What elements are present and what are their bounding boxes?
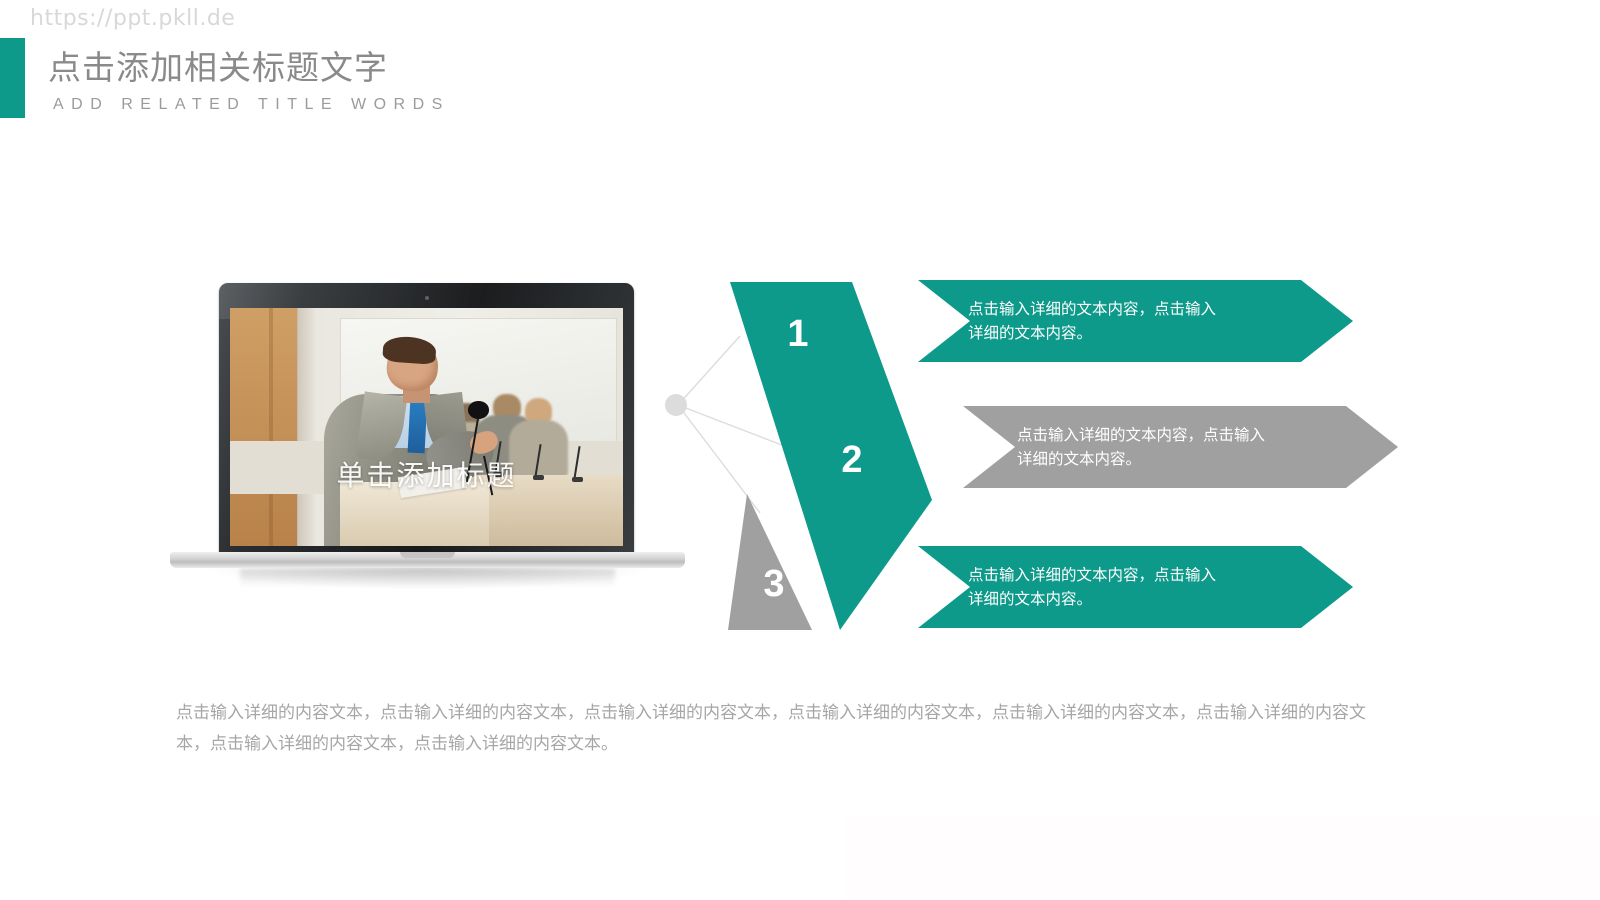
- corner-tint: [843, 816, 1600, 900]
- step-2-banner-line-2: 详细的文本内容。: [1017, 447, 1346, 471]
- laptop-shadow: [200, 568, 655, 590]
- step-1-banner-text: 点击输入详细的文本内容，点击输入 详细的文本内容。: [918, 280, 1353, 362]
- step-3-banner[interactable]: 点击输入详细的文本内容，点击输入 详细的文本内容。: [918, 546, 1353, 628]
- step-3-shape[interactable]: [728, 494, 812, 630]
- step-2-banner-text: 点击输入详细的文本内容，点击输入 详细的文本内容。: [963, 406, 1398, 488]
- footer-paragraph: 点击输入详细的内容文本，点击输入详细的内容文本，点击输入详细的内容文本，点击输入…: [176, 698, 1396, 760]
- step-2-banner-line-1: 点击输入详细的文本内容，点击输入: [1017, 423, 1346, 447]
- step-2-banner[interactable]: 点击输入详细的文本内容，点击输入 详细的文本内容。: [963, 406, 1398, 488]
- step-3-banner-text: 点击输入详细的文本内容，点击输入 详细的文本内容。: [918, 546, 1353, 628]
- screen-overlay-title: 单击添加标题: [230, 454, 623, 494]
- photo-microphone-head: [468, 401, 490, 419]
- laptop-screen: 单击添加标题: [230, 308, 623, 546]
- step-3-number: 3: [763, 563, 784, 605]
- step-1-banner[interactable]: 点击输入详细的文本内容，点击输入 详细的文本内容。: [918, 280, 1353, 362]
- step-1-banner-line-2: 详细的文本内容。: [968, 321, 1301, 345]
- header-accent-bar: [0, 38, 25, 118]
- step-3-banner-line-1: 点击输入详细的文本内容，点击输入: [968, 563, 1301, 587]
- watermark-url: https://ppt.pkll.de: [30, 6, 235, 31]
- step-3-banner-line-2: 详细的文本内容。: [968, 587, 1301, 611]
- photo-wood-panel: [230, 308, 297, 546]
- page-title: 点击添加相关标题文字: [48, 41, 388, 89]
- laptop-base-notch: [400, 552, 455, 558]
- page-subtitle: ADD RELATED TITLE WORDS: [53, 96, 450, 114]
- connector-hub-dot: [665, 394, 687, 416]
- laptop-camera-icon: [425, 296, 429, 300]
- step-1-number: 1: [787, 313, 808, 355]
- step-2-number: 2: [841, 439, 862, 481]
- step-1-banner-line-1: 点击输入详细的文本内容，点击输入: [968, 297, 1301, 321]
- laptop-mockup: 单击添加标题: [160, 283, 700, 603]
- slide-canvas: https://ppt.pkll.de 点击添加相关标题文字 ADD RELAT…: [0, 0, 1600, 900]
